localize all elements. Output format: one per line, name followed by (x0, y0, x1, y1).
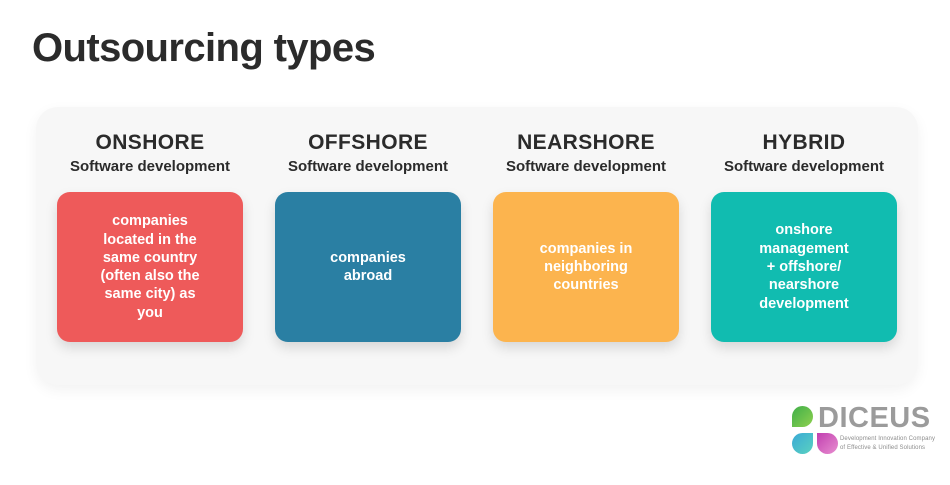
card-text-onshore: companies located in the same country (o… (100, 212, 199, 322)
diceus-tagline: Development Innovation Company of Effect… (840, 435, 935, 452)
column-title-offshore: OFFSHORE (308, 131, 428, 155)
column-nearshore: NEARSHORE Software development companies… (477, 131, 695, 385)
card-nearshore: companies in neighboring countries (493, 192, 679, 342)
leaf-magenta-icon (817, 433, 838, 454)
column-offshore: OFFSHORE Software development companies … (259, 131, 477, 385)
column-onshore: ONSHORE Software development companies l… (41, 131, 259, 385)
columns-container: ONSHORE Software development companies l… (36, 107, 918, 385)
column-subtitle-hybrid: Software development (724, 158, 884, 176)
diceus-wordmark: DICEUS (818, 404, 931, 433)
leaf-green-icon (792, 406, 813, 427)
column-subtitle-onshore: Software development (70, 158, 230, 176)
card-hybrid: onshore management + offshore/ nearshore… (711, 192, 897, 342)
column-hybrid: HYBRID Software development onshore mana… (695, 131, 913, 385)
column-title-onshore: ONSHORE (96, 131, 205, 155)
page-title: Outsourcing types (32, 26, 375, 70)
card-text-nearshore: companies in neighboring countries (540, 240, 633, 295)
column-title-hybrid: HYBRID (763, 131, 846, 155)
leaf-blue-icon (792, 433, 813, 454)
column-title-nearshore: NEARSHORE (517, 131, 655, 155)
outsourcing-types-panel: ONSHORE Software development companies l… (36, 107, 918, 385)
card-text-hybrid: onshore management + offshore/ nearshore… (759, 221, 848, 312)
column-subtitle-nearshore: Software development (506, 158, 666, 176)
card-offshore: companies abroad (275, 192, 461, 342)
diceus-logo: DICEUS Development Innovation Company of… (792, 404, 942, 460)
card-text-offshore: companies abroad (330, 249, 406, 286)
card-onshore: companies located in the same country (o… (57, 192, 243, 342)
column-subtitle-offshore: Software development (288, 158, 448, 176)
